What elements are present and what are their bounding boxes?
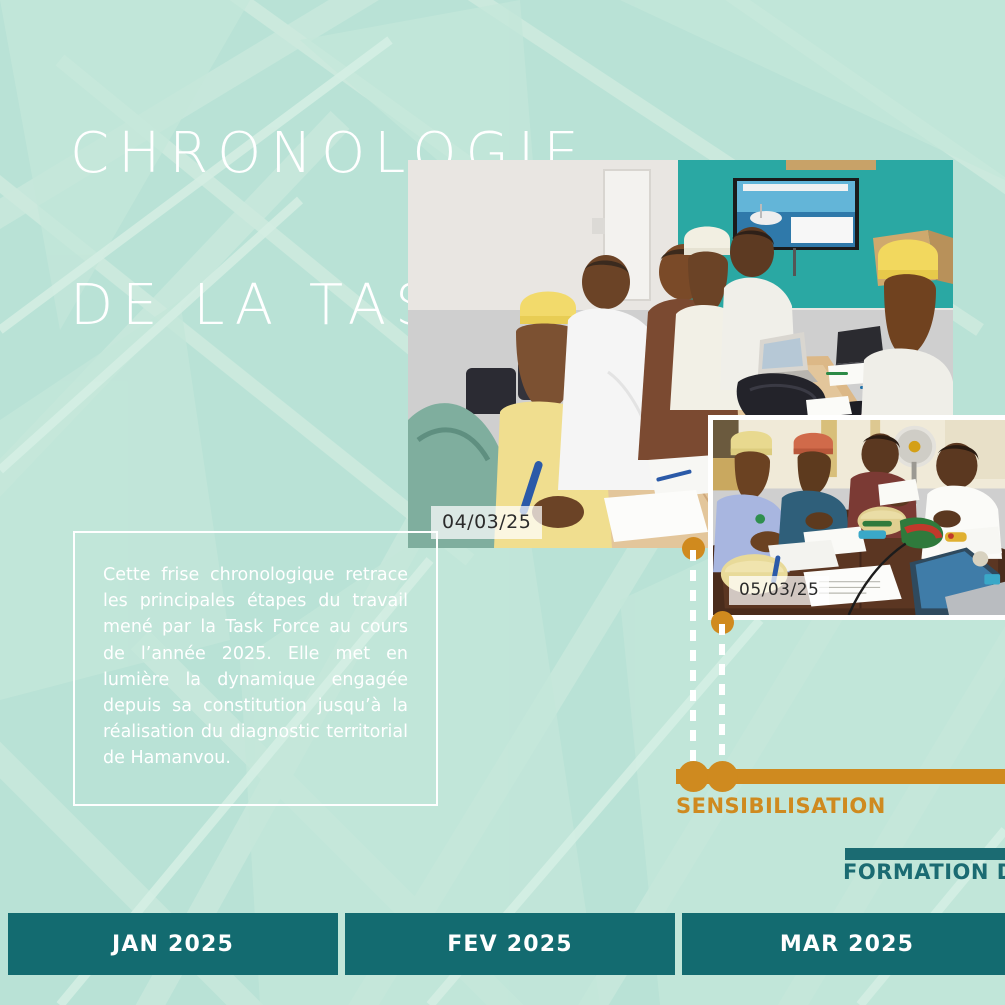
photo-date-badge-1: 04/03/25: [431, 506, 542, 539]
track-label-sensibilisation: SENSIBILISATION: [676, 794, 886, 818]
month-cell-fev[interactable]: FEV 2025: [345, 913, 675, 975]
photo-date-badge-2: 05/03/25: [729, 576, 829, 605]
timeline-connector-2: [719, 624, 725, 772]
intro-paragraph: Cette frise chronologique retrace les pr…: [103, 562, 408, 772]
track-marker-sensibilisation-2: [707, 761, 738, 792]
month-cell-jan[interactable]: JAN 2025: [8, 913, 338, 975]
timeline-connector-1: [690, 550, 696, 772]
track-marker-sensibilisation-1: [678, 761, 709, 792]
month-axis: JAN 2025 FEV 2025 MAR 2025: [8, 913, 1005, 975]
track-label-formation: FORMATION DIA: [843, 860, 1005, 884]
month-cell-mar[interactable]: MAR 2025: [682, 913, 1005, 975]
track-bar-formation: [845, 848, 1005, 860]
